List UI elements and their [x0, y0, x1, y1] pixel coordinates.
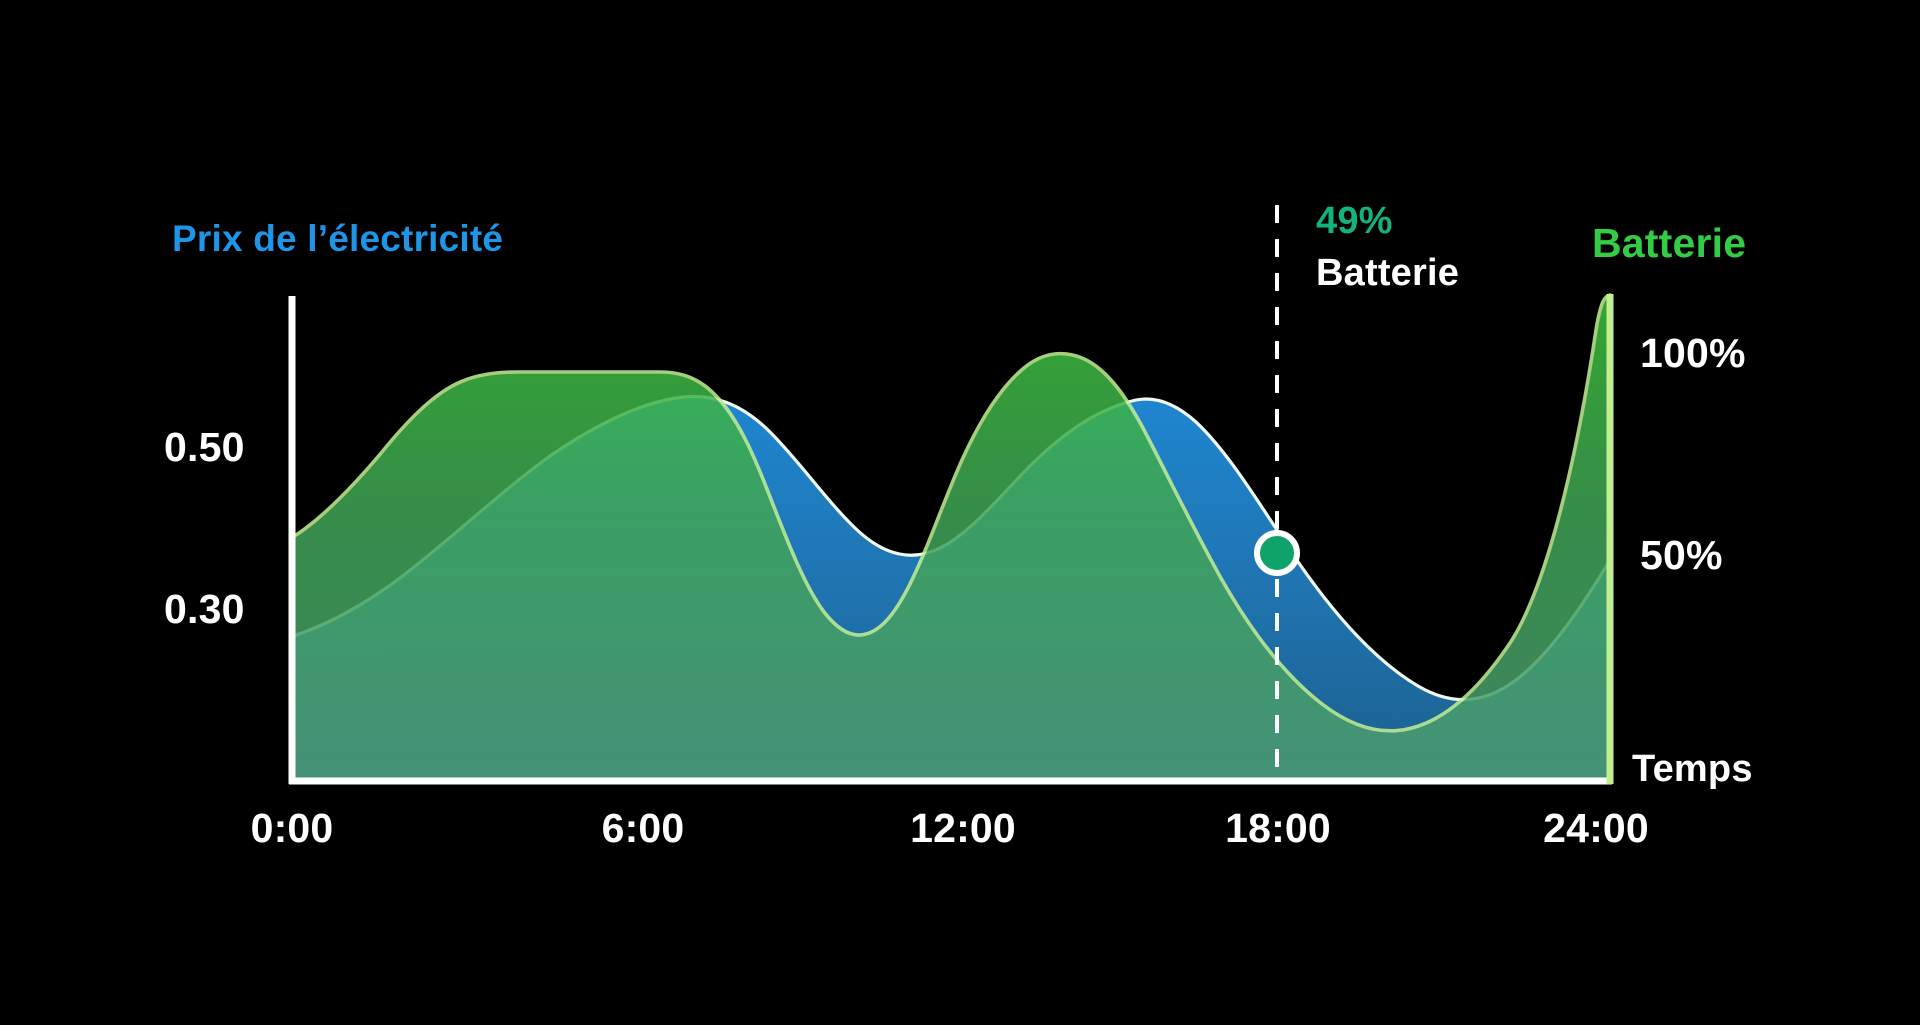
x-tick-3: 18:00 [1225, 805, 1331, 852]
x-axis-title: Temps [1632, 748, 1753, 791]
x-tick-4: 24:00 [1543, 805, 1649, 852]
y-tick-left-0: 0.50 [164, 424, 245, 471]
chart-canvas: Prix de l’électricité Batterie 49% Batte… [0, 0, 1920, 1025]
y-tick-right-0: 100% [1640, 330, 1746, 377]
cursor-value: 49% [1316, 200, 1393, 243]
cursor-marker[interactable] [1257, 533, 1297, 573]
x-tick-2: 12:00 [910, 805, 1016, 852]
x-tick-1: 6:00 [602, 805, 685, 852]
y-tick-right-1: 50% [1640, 532, 1723, 579]
x-tick-0: 0:00 [251, 805, 334, 852]
y-tick-left-1: 0.30 [164, 586, 245, 633]
price-axis-title: Prix de l’électricité [172, 218, 503, 260]
battery-axis-title: Batterie [1592, 220, 1746, 267]
cursor-label: Batterie [1316, 252, 1459, 295]
chart-svg [0, 0, 1920, 1025]
